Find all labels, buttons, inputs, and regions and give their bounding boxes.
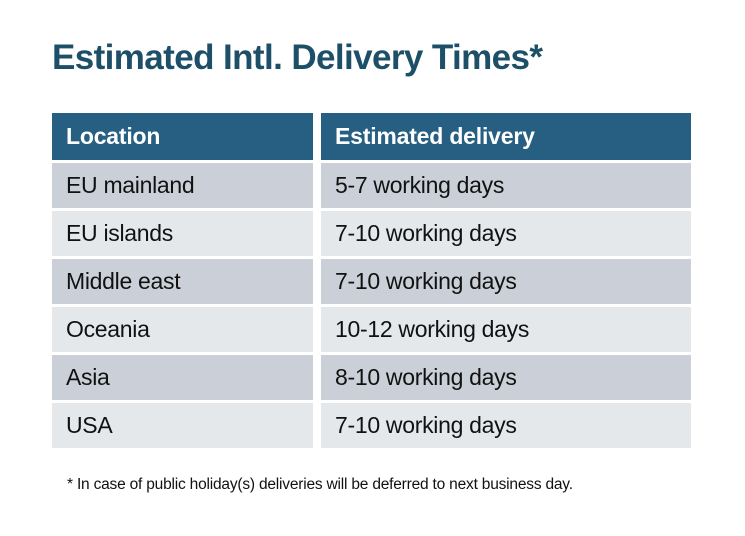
cell-estimated-delivery: 7-10 working days: [321, 259, 691, 304]
footnote-text: * In case of public holiday(s) deliverie…: [67, 475, 707, 495]
table-row: Asia 8-10 working days: [52, 355, 691, 400]
cell-location: USA: [52, 403, 313, 448]
cell-estimated-delivery: 8-10 working days: [321, 355, 691, 400]
cell-estimated-delivery: 7-10 working days: [321, 403, 691, 448]
table-row: Oceania 10-12 working days: [52, 307, 691, 352]
estimated-delivery-table: Location Estimated delivery EU mainland …: [52, 113, 691, 451]
table-header-row: Location Estimated delivery: [52, 113, 691, 160]
cell-location: Asia: [52, 355, 313, 400]
table-row: EU islands 7-10 working days: [52, 211, 691, 256]
cell-location: EU islands: [52, 211, 313, 256]
table-row: Middle east 7-10 working days: [52, 259, 691, 304]
cell-location: EU mainland: [52, 163, 313, 208]
cell-location: Middle east: [52, 259, 313, 304]
table-row: EU mainland 5-7 working days: [52, 163, 691, 208]
cell-location: Oceania: [52, 307, 313, 352]
column-header-estimated-delivery: Estimated delivery: [321, 113, 691, 160]
delivery-times-card: Estimated Intl. Delivery Times* Location…: [0, 0, 745, 536]
cell-estimated-delivery: 5-7 working days: [321, 163, 691, 208]
cell-estimated-delivery: 7-10 working days: [321, 211, 691, 256]
page-title: Estimated Intl. Delivery Times*: [52, 36, 692, 80]
cell-estimated-delivery: 10-12 working days: [321, 307, 691, 352]
table-row: USA 7-10 working days: [52, 403, 691, 448]
column-header-location: Location: [52, 113, 313, 160]
